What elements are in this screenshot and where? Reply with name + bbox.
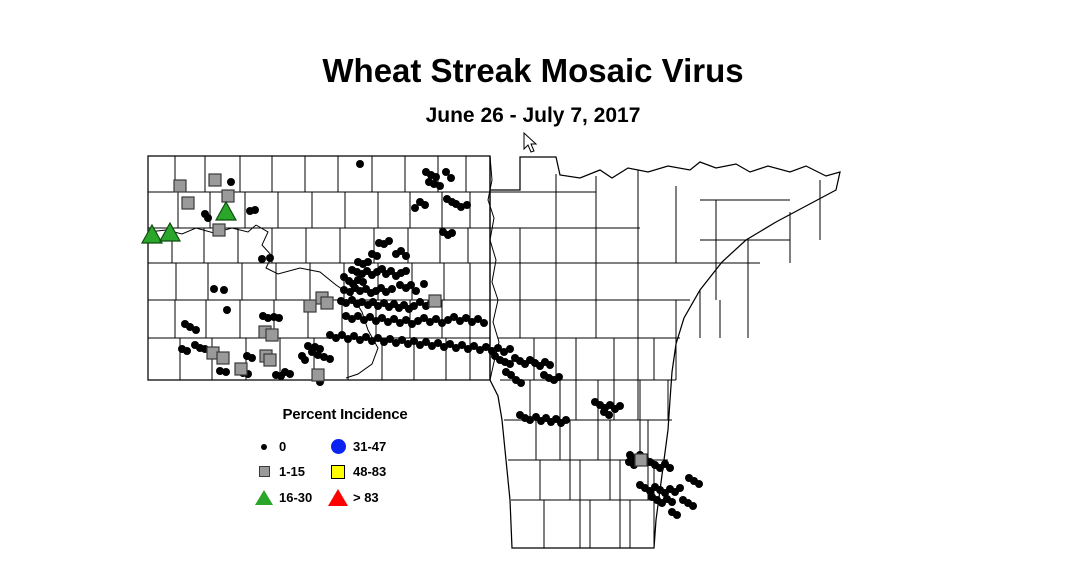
- map-point-dot: [222, 368, 230, 376]
- mouse-cursor-icon: [524, 133, 536, 152]
- map-point-dot: [402, 252, 410, 260]
- map-point-dot: [286, 370, 294, 378]
- map-point-dot: [388, 285, 396, 293]
- map-point-dot: [432, 173, 440, 181]
- map-point-dot: [275, 314, 283, 322]
- yellow-square-icon: [330, 464, 346, 480]
- map-point-dot: [411, 204, 419, 212]
- map-point-dot: [356, 160, 364, 168]
- map-point-dot: [301, 356, 309, 364]
- map-point-dot: [695, 480, 703, 488]
- legend-label-over-83: > 83: [353, 491, 379, 504]
- map-point-dot: [192, 326, 200, 334]
- map-point-dot: [359, 278, 367, 286]
- map-point-gray-square: [266, 329, 278, 341]
- map-point-dot: [204, 214, 212, 222]
- map-point-dot: [676, 484, 684, 492]
- map-point-dot: [385, 237, 393, 245]
- map-point-gray-square: [222, 190, 234, 202]
- map-point-gray-square: [312, 369, 324, 381]
- map-point-dot: [277, 372, 285, 380]
- map-point-gray-square: [429, 295, 441, 307]
- map-point-dot: [220, 286, 228, 294]
- legend-item-16-30[interactable]: 16-30: [256, 486, 330, 510]
- map-point-dot: [227, 178, 235, 186]
- map-point-gray-square: [182, 197, 194, 209]
- legend-label-1-15: 1-15: [279, 465, 305, 478]
- blue-circle-icon: [330, 439, 346, 455]
- legend-label-31-47: 31-47: [353, 440, 386, 453]
- gray-square-icon: [256, 464, 272, 480]
- map-point-dot: [251, 206, 259, 214]
- black-dot-icon: [256, 439, 272, 455]
- map-point-dot: [266, 254, 274, 262]
- map-point-dot: [373, 252, 381, 260]
- map-point-dot: [258, 255, 266, 263]
- legend-label-16-30: 16-30: [279, 491, 312, 504]
- legend-items: 0 31-47 1-15 48-83 16-30 > 83: [256, 434, 446, 511]
- map-point-dot: [605, 411, 613, 419]
- map-point-dot: [223, 306, 231, 314]
- map-point-dot: [506, 345, 514, 353]
- legend-item-48-83[interactable]: 48-83: [330, 460, 426, 484]
- map-point-dot: [480, 319, 488, 327]
- map-point-dot: [668, 498, 676, 506]
- legend-item-over-83[interactable]: > 83: [330, 486, 426, 510]
- map-point-dot: [402, 267, 410, 275]
- map-point-gray-square: [217, 352, 229, 364]
- map-point-dot: [517, 379, 525, 387]
- map-point-dot: [448, 229, 456, 237]
- legend-label-0: 0: [279, 440, 286, 453]
- map-point-gray-square: [209, 174, 221, 186]
- map-point-dot: [248, 354, 256, 362]
- map-point-gray-square: [213, 224, 225, 236]
- map-point-gray-square: [235, 363, 247, 375]
- map-point-dot: [436, 182, 444, 190]
- map-point-dot: [666, 464, 674, 472]
- map-point-dot: [555, 373, 563, 381]
- map-point-dot: [183, 347, 191, 355]
- map-point-gray-square: [304, 300, 316, 312]
- map-point-dot: [507, 371, 515, 379]
- map-point-green-triangle: [160, 223, 180, 241]
- legend-title: Percent Incidence: [260, 406, 430, 423]
- legend-item-1-15[interactable]: 1-15: [256, 460, 330, 484]
- map-point-green-triangle: [216, 202, 236, 220]
- map-point-dot: [421, 201, 429, 209]
- map-point-dot: [412, 287, 420, 295]
- map-point-dot: [689, 502, 697, 510]
- map-point-dot: [326, 355, 334, 363]
- map-point-dot: [364, 258, 372, 266]
- map-point-dot: [546, 361, 554, 369]
- legend: Percent Incidence 0 31-47 1-15 48-83 16-…: [256, 406, 446, 510]
- map-point-gray-square: [174, 180, 186, 192]
- legend-item-0[interactable]: 0: [256, 435, 330, 459]
- map-point-dot: [616, 402, 624, 410]
- map-point-dot: [673, 511, 681, 519]
- map-point-dot: [463, 201, 471, 209]
- map-point-gray-square: [635, 454, 647, 466]
- red-triangle-icon: [330, 490, 346, 506]
- map-point-gray-square: [264, 354, 276, 366]
- green-triangle-icon: [256, 490, 272, 506]
- map-container: [0, 0, 1066, 587]
- map-point-dot: [420, 280, 428, 288]
- legend-item-31-47[interactable]: 31-47: [330, 435, 426, 459]
- nd-mn-county-map: [0, 0, 1066, 587]
- map-point-dot: [562, 416, 570, 424]
- map-point-dot: [210, 285, 218, 293]
- map-point-dot: [447, 174, 455, 182]
- legend-label-48-83: 48-83: [353, 465, 386, 478]
- map-point-gray-square: [321, 297, 333, 309]
- figure-canvas: Wheat Streak Mosaic Virus June 26 - July…: [0, 0, 1066, 587]
